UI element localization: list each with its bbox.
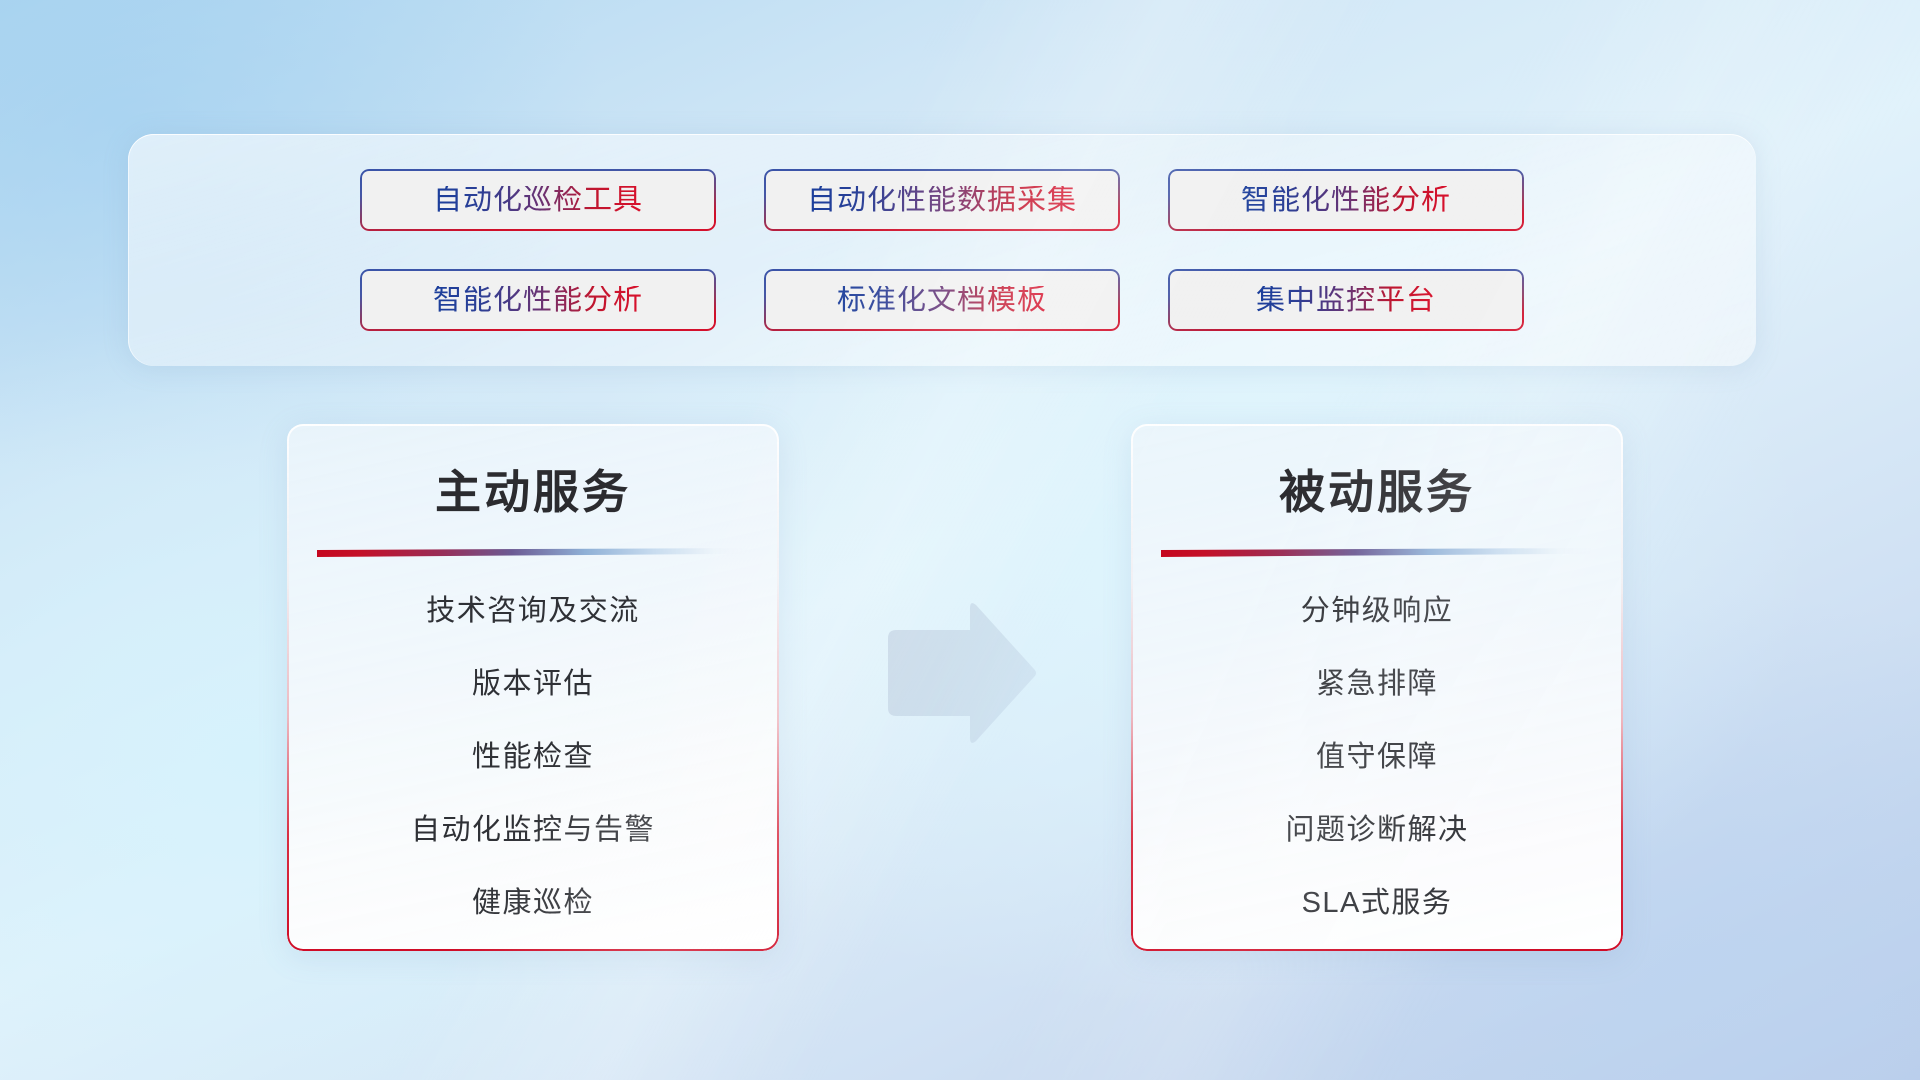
capability-tag-intelligent-performance-analysis-2[interactable]: 智能化性能分析 [360, 269, 716, 331]
capability-tag-label: 自动化巡检工具 [433, 186, 643, 215]
capability-tag-label: 标准化文档模板 [837, 286, 1047, 315]
capability-tag-label: 智能化性能分析 [433, 286, 643, 315]
list-item: 健康巡检 [287, 889, 779, 918]
right-arrow-icon [882, 602, 1038, 744]
list-item: 技术咨询及交流 [287, 597, 779, 670]
card-title-passive: 被动服务 [1131, 424, 1623, 522]
capability-tag-label: 集中监控平台 [1256, 286, 1436, 315]
capability-tag-standardized-doc-template[interactable]: 标准化文档模板 [764, 269, 1120, 331]
list-item: 值守保障 [1131, 743, 1623, 816]
capability-tag-intelligent-performance-analysis-1[interactable]: 智能化性能分析 [1168, 169, 1524, 231]
service-card-passive: 被动服务 分钟级响应 紧急排障 值守保障 问题诊断解决 SLA式服务 [1131, 424, 1623, 951]
service-list-active: 技术咨询及交流 版本评估 性能检查 自动化监控与告警 健康巡检 [287, 557, 779, 918]
gradient-bar [1161, 548, 1593, 557]
service-list-passive: 分钟级响应 紧急排障 值守保障 问题诊断解决 SLA式服务 [1131, 557, 1623, 918]
capability-tags-panel: 自动化巡检工具 自动化性能数据采集 智能化性能分析 智能化性能分析 标准化文档模… [128, 134, 1756, 366]
list-item: 自动化监控与告警 [287, 816, 779, 889]
capability-tag-grid: 自动化巡检工具 自动化性能数据采集 智能化性能分析 智能化性能分析 标准化文档模… [128, 134, 1756, 366]
list-item: 分钟级响应 [1131, 597, 1623, 670]
list-item: 紧急排障 [1131, 670, 1623, 743]
capability-tag-automated-inspection-tool[interactable]: 自动化巡检工具 [360, 169, 716, 231]
card-divider-active [317, 548, 749, 557]
gradient-bar [317, 548, 749, 557]
arrow-shape [888, 603, 1036, 743]
card-divider-passive [1161, 548, 1593, 557]
capability-tag-centralized-monitoring-platform[interactable]: 集中监控平台 [1168, 269, 1524, 331]
service-card-active: 主动服务 技术咨询及交流 版本评估 性能检查 自动化监控与告警 健康巡检 [287, 424, 779, 951]
slide-canvas: 自动化巡检工具 自动化性能数据采集 智能化性能分析 智能化性能分析 标准化文档模… [0, 0, 1920, 1080]
card-title-active: 主动服务 [287, 424, 779, 522]
list-item: 版本评估 [287, 670, 779, 743]
capability-tag-automated-performance-data-collection[interactable]: 自动化性能数据采集 [764, 169, 1120, 231]
capability-tag-label: 自动化性能数据采集 [807, 186, 1077, 215]
capability-tag-label: 智能化性能分析 [1241, 186, 1451, 215]
list-item: SLA式服务 [1131, 889, 1623, 918]
list-item: 问题诊断解决 [1131, 816, 1623, 889]
list-item: 性能检查 [287, 743, 779, 816]
